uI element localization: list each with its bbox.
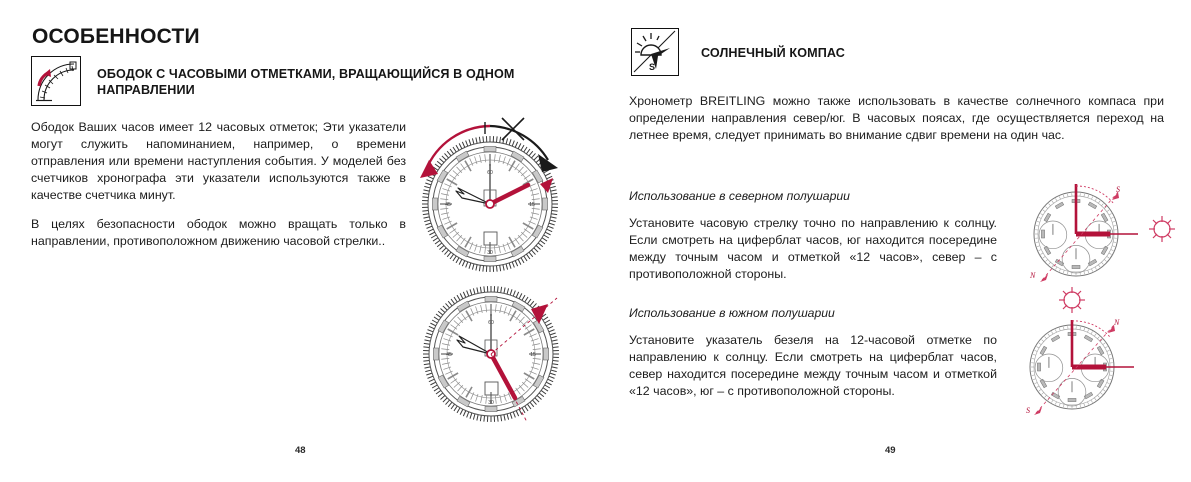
north-label-s: S: [1116, 185, 1120, 194]
svg-text:15: 15: [529, 202, 535, 208]
svg-text:45: 45: [446, 352, 452, 358]
left-page-number: 48: [295, 445, 306, 456]
left-paragraph-1: Ободок Ваших часов имеет 12 часовых отме…: [31, 119, 406, 204]
svg-text:30: 30: [488, 400, 494, 406]
right-paragraph-1: Хронометр BREITLING можно также использо…: [629, 93, 1164, 144]
right-paragraph-3: Установите указатель безеля на 12-часово…: [629, 332, 997, 400]
right-paragraph-2: Установите часовую стрелку точно по напр…: [629, 215, 997, 283]
left-page: ОСОБЕННОСТИ: [0, 0, 595, 482]
rotating-bezel-icon: [31, 56, 81, 106]
svg-text:30: 30: [487, 250, 493, 256]
southern-hemisphere-subheading: Использование в южном полушарии: [629, 306, 835, 320]
feature-heading: ОБОДОК С ЧАСОВЫМИ ОТМЕТКАМИ, ВРАЩАЮЩИЙСЯ…: [97, 66, 517, 98]
right-page-number: 49: [885, 445, 896, 456]
left-paragraph-2: В целях безопасности ободок можно вращат…: [31, 216, 406, 250]
manual-spread: ОСОБЕННОСТИ: [0, 0, 1191, 482]
page-title: ОСОБЕННОСТИ: [32, 25, 200, 49]
compass-heading: СОЛНЕЧНЫЙ КОМПАС: [701, 46, 845, 60]
south-label-n: N: [1113, 318, 1120, 327]
svg-text:15: 15: [530, 352, 536, 358]
northern-hemisphere-subheading: Использование в северном полушарии: [629, 189, 850, 203]
southern-hemisphere-compass-diagram: S N: [1022, 287, 1190, 420]
northern-hemisphere-compass-diagram: N S: [1022, 176, 1190, 284]
south-label-s: S: [1026, 406, 1030, 415]
watch-bezel-rotation-diagram: 60 30 45 15: [402, 112, 582, 272]
watch-bezel-pointer-diagram: 60 30 45 15: [405, 282, 577, 430]
sun-compass-icon: S: [631, 28, 679, 76]
svg-text:45: 45: [445, 202, 451, 208]
sun-compass-icon-label: S: [649, 62, 655, 72]
north-label-n: N: [1029, 271, 1036, 280]
